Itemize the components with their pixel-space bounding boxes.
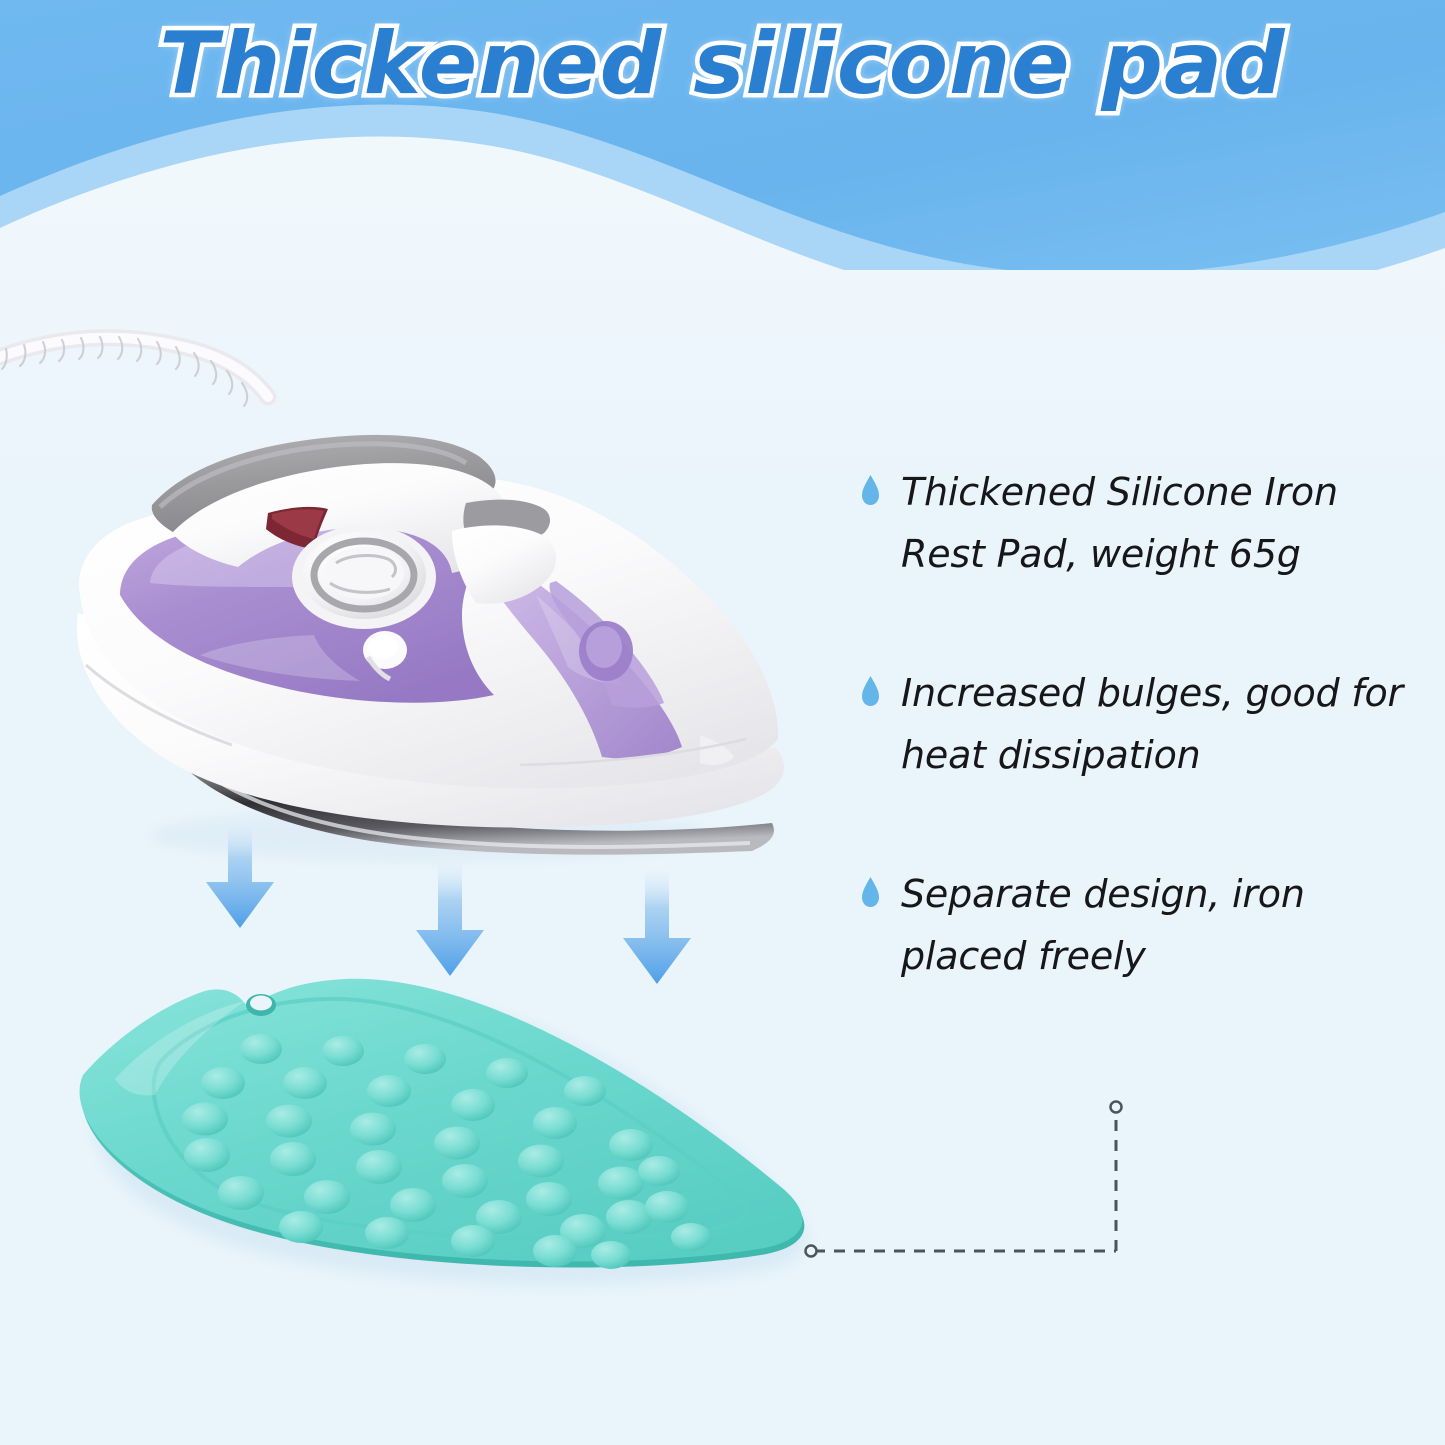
feature-list: Thickened Silicone Iron Rest Pad, weight… (862, 462, 1427, 987)
leader-endpoint-left (806, 1246, 817, 1257)
iron-temperature-dial (292, 525, 436, 629)
down-arrow-1 (206, 820, 274, 928)
silicone-pad-illustration (55, 955, 855, 1315)
feature-item-3: Separate design, iron placed freely (862, 864, 1427, 987)
water-drop-bullet-icon (862, 475, 879, 505)
power-cord (0, 337, 268, 406)
feature-text-3: Separate design, iron placed freely (901, 864, 1421, 987)
water-drop-bullet-icon (862, 877, 879, 907)
feature-item-2: Increased bulges, good for heat dissipat… (862, 663, 1427, 786)
dimension-leader-line (780, 1080, 1180, 1300)
feature-item-1: Thickened Silicone Iron Rest Pad, weight… (862, 462, 1427, 585)
infographic-canvas: Thickened silicone pad (0, 0, 1445, 1445)
leader-endpoint-top (1111, 1102, 1122, 1113)
iron-illustration (0, 295, 800, 895)
feature-text-2: Increased bulges, good for heat dissipat… (901, 663, 1421, 786)
feature-text-1: Thickened Silicone Iron Rest Pad, weight… (901, 462, 1421, 585)
header-banner: Thickened silicone pad (0, 0, 1445, 270)
pad-hanging-hole (246, 994, 276, 1016)
water-drop-bullet-icon (862, 676, 879, 706)
